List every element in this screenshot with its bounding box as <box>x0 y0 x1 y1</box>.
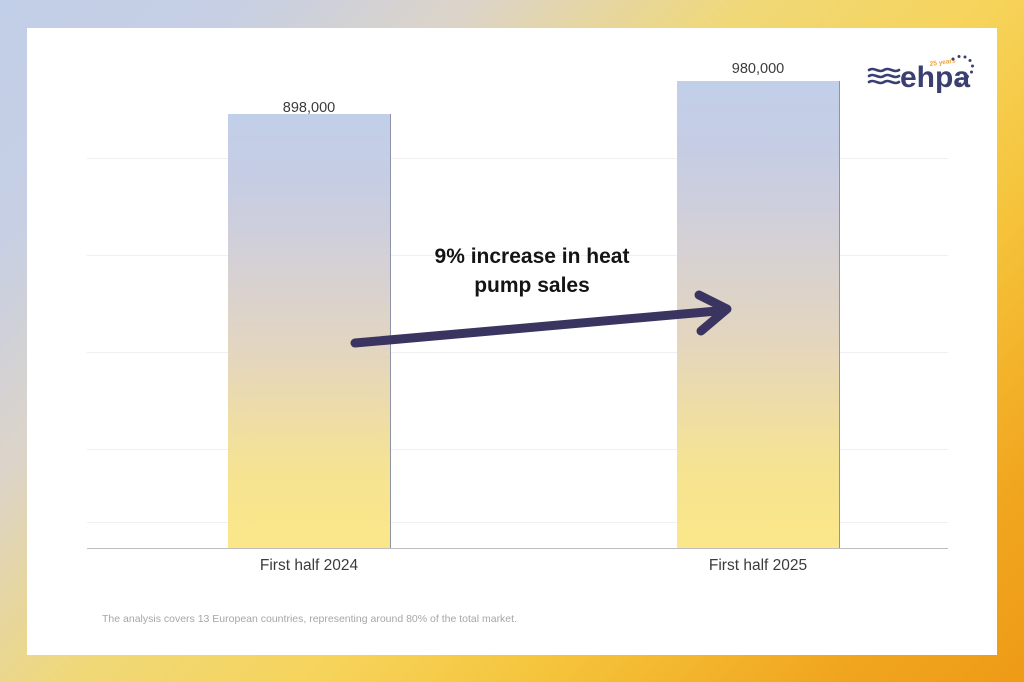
chart-footnote: The analysis covers 13 European countrie… <box>102 613 517 625</box>
x-axis-line <box>87 548 948 549</box>
chart-card: ehpa . 25 years <box>27 28 997 655</box>
gradient-frame: ehpa . 25 years <box>0 0 1024 682</box>
chart-plot-area: 898,000 First half 2024 980,000 First ha… <box>27 28 997 655</box>
bar-category-label-2025: First half 2025 <box>657 557 859 575</box>
bar-value-label-2025: 980,000 <box>677 61 839 77</box>
annotation-arrow <box>347 293 747 353</box>
arrow-shaft <box>355 311 717 343</box>
bar-category-label-2024: First half 2024 <box>208 557 410 575</box>
annotation-line-1: 9% increase in heat <box>382 243 682 272</box>
bar-value-label-2024: 898,000 <box>228 100 390 116</box>
